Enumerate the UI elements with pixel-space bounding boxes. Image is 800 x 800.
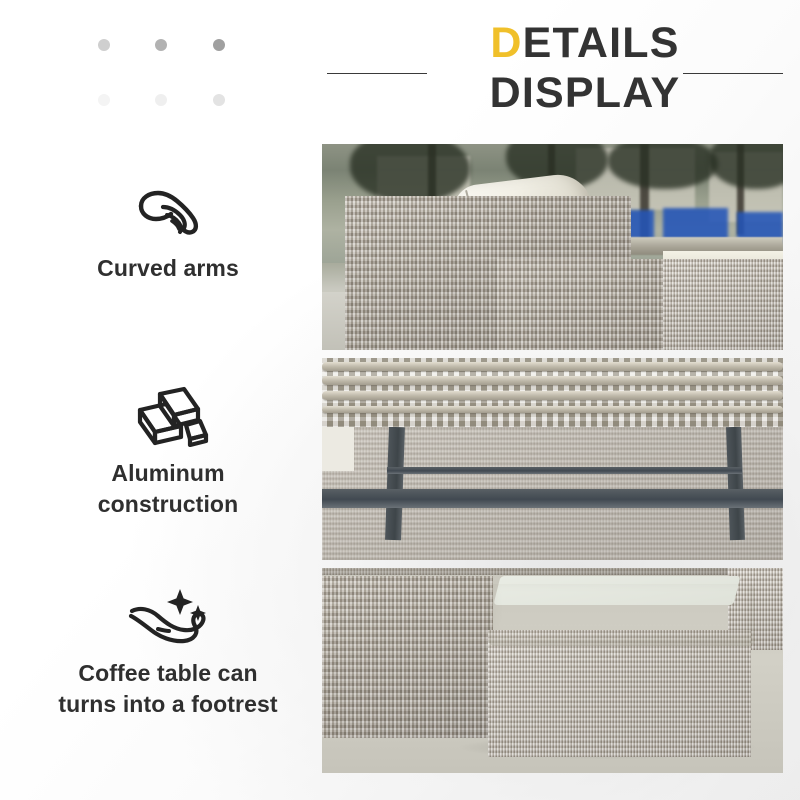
aluminum-ingots-icon — [18, 380, 318, 452]
page-title-line-1: DETAILS — [400, 18, 770, 68]
foot-sparkle-icon — [18, 580, 318, 652]
page-title-line-1-rest: ETAILS — [523, 19, 680, 67]
feature-label: Aluminum construction — [18, 458, 318, 520]
page-title-accent-letter: D — [490, 19, 522, 67]
grid-dot — [155, 39, 167, 51]
photo-ottoman-footrest — [322, 568, 783, 773]
photo-curved-arm-chair — [322, 144, 783, 350]
dot-grid — [88, 35, 228, 111]
grid-dot — [98, 39, 110, 51]
product-detail-page: DETAILS DISPLAY Curved arms — [0, 0, 800, 800]
grid-dot — [213, 94, 225, 106]
feature-item-aluminum-construction: Aluminum construction — [18, 380, 318, 520]
page-title-line-2: DISPLAY — [400, 68, 770, 118]
feature-item-curved-arms: Curved arms — [18, 175, 318, 284]
grid-dot — [213, 39, 225, 51]
feature-label: Curved arms — [18, 253, 318, 284]
grid-dot — [98, 94, 110, 106]
page-title: DETAILS DISPLAY — [400, 18, 770, 118]
feature-item-coffee-table-footrest: Coffee table can turns into a footrest — [18, 580, 318, 720]
curved-hand-arm-icon — [18, 175, 318, 247]
feature-label: Coffee table can turns into a footrest — [18, 658, 318, 720]
grid-dot — [155, 94, 167, 106]
photo-weave-and-aluminum-frame — [322, 358, 783, 560]
